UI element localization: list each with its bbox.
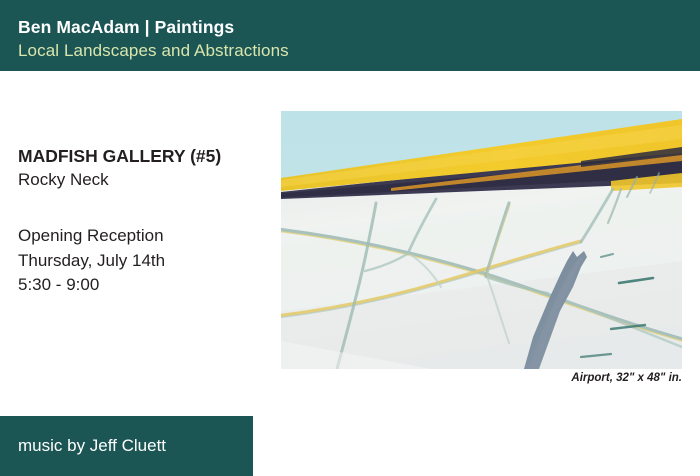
artwork-image: [281, 111, 682, 369]
artwork-caption: Airport, 32" x 48" in.: [382, 372, 682, 384]
page-subtitle: Local Landscapes and Abstractions: [18, 41, 289, 61]
venue-name: MADFISH GALLERY (#5): [18, 145, 258, 168]
event-time: 5:30 - 9:00: [18, 273, 268, 298]
page-title: Ben MacAdam | Paintings: [18, 17, 234, 38]
poster-canvas: Ben MacAdam | Paintings Local Landscapes…: [0, 0, 700, 476]
header-band: Ben MacAdam | Paintings Local Landscapes…: [0, 0, 700, 71]
event-heading: Opening Reception: [18, 224, 268, 249]
event-date: Thursday, July 14th: [18, 249, 268, 274]
venue-locale: Rocky Neck: [18, 168, 258, 191]
artwork-painting-graphic: [281, 111, 682, 369]
footer-band: music by Jeff Cluett: [0, 416, 253, 476]
footer-credit: music by Jeff Cluett: [18, 436, 166, 456]
venue-block: MADFISH GALLERY (#5) Rocky Neck: [18, 145, 258, 191]
event-details-block: Opening Reception Thursday, July 14th 5:…: [18, 224, 268, 298]
